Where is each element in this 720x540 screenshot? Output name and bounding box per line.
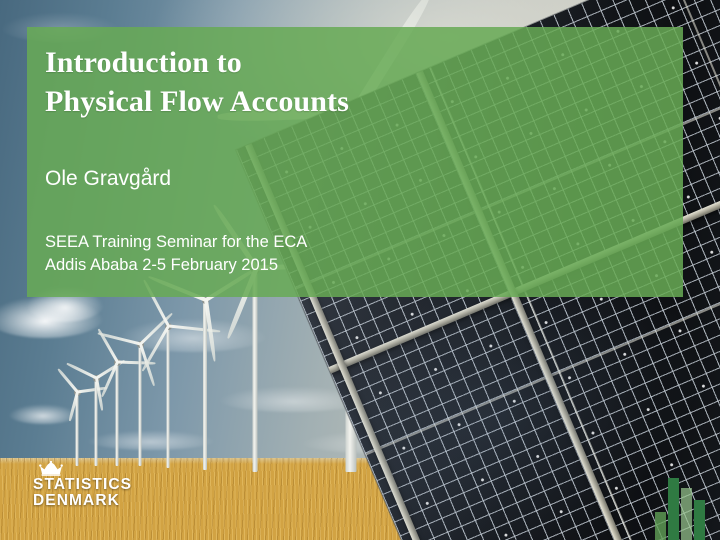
turbine-mast	[167, 326, 170, 468]
turbine-mast	[253, 268, 258, 472]
wind-turbine	[186, 300, 224, 470]
presentation-slide: Introduction to Physical Flow Accounts O…	[0, 0, 720, 540]
wind-turbine	[232, 268, 278, 472]
logo-text-statistics: STATISTICS	[33, 477, 153, 493]
crown-icon	[39, 461, 63, 476]
logo-text-denmark: DENMARK	[33, 493, 153, 509]
title-line-1: Introduction to	[45, 46, 242, 79]
event-details: SEEA Training Seminar for the ECA Addis …	[45, 192, 669, 277]
event-line-2: Addis Ababa 2-5 February 2015	[45, 256, 278, 274]
bar-chart-mark	[655, 468, 710, 540]
statistics-denmark-logo: STATISTICS DENMARK	[33, 461, 153, 509]
wind-turbine	[126, 344, 154, 466]
bar-1	[655, 512, 666, 540]
turbine-mast	[203, 300, 207, 470]
bar-4	[694, 500, 705, 540]
bar-3	[681, 488, 692, 540]
title-line-2: Physical Flow Accounts	[45, 85, 349, 118]
page-title: Introduction to Physical Flow Accounts	[45, 35, 669, 121]
turbine-mast	[116, 362, 119, 466]
turbine-mast	[139, 344, 142, 466]
author-name: Ole Gravgård	[45, 121, 669, 192]
wind-turbine	[152, 326, 184, 468]
event-line-1: SEEA Training Seminar for the ECA	[45, 233, 307, 251]
bar-2	[668, 478, 679, 540]
title-panel: Introduction to Physical Flow Accounts O…	[27, 27, 683, 297]
